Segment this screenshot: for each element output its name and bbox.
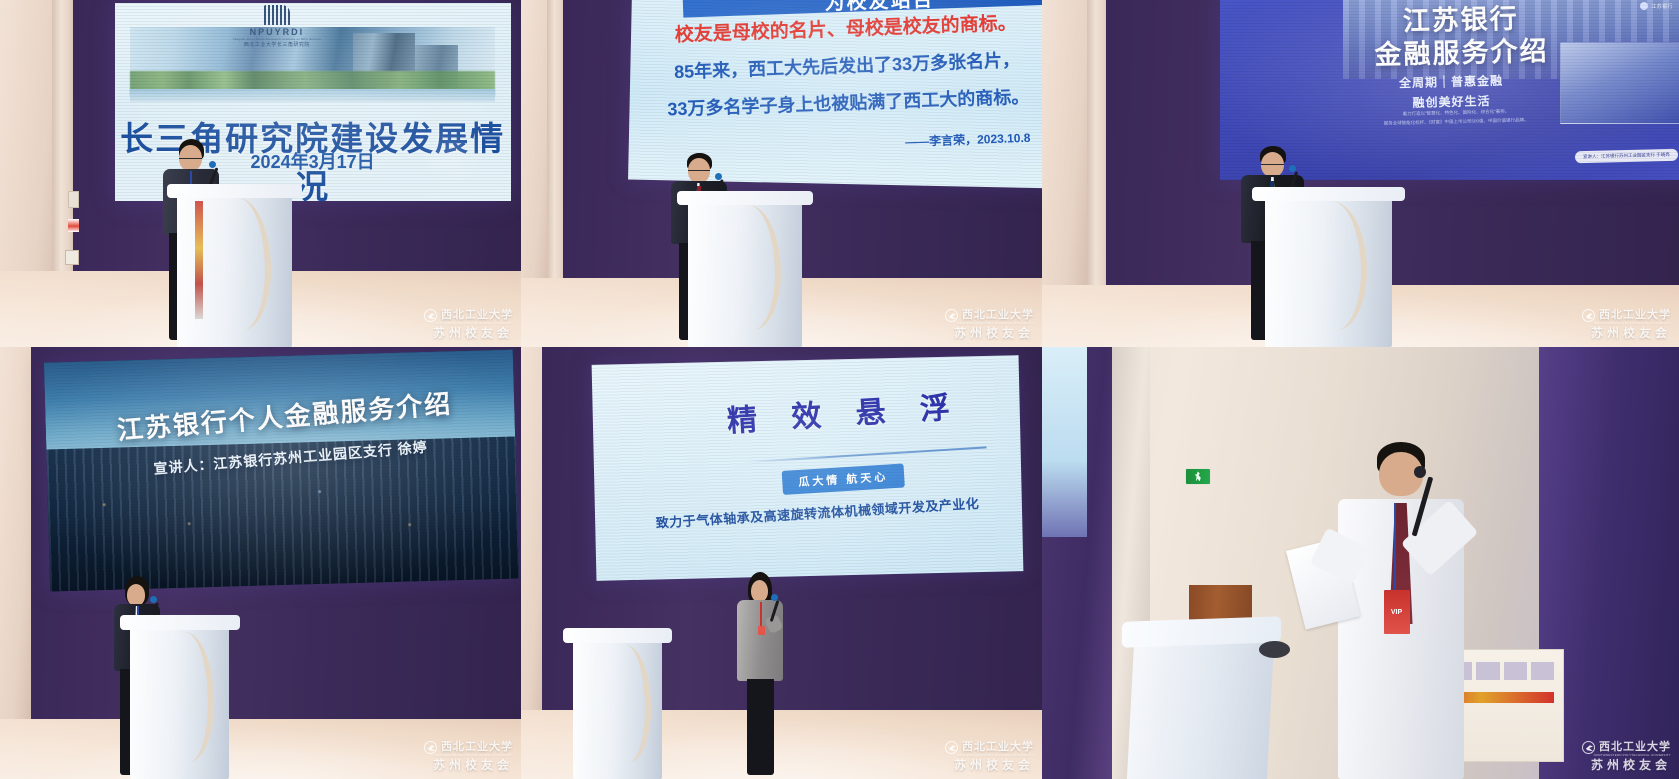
head xyxy=(127,584,145,606)
slide-line-3: 33万多名学子身上也被贴满了西工大的商标。 xyxy=(652,82,1042,122)
bank-mark-icon xyxy=(1640,2,1648,10)
lanyard xyxy=(760,602,762,628)
led-screen: 精 效 悬 浮 瓜大情 航天心 致力于气体轴承及高速旋转流体机械领域开发及产业化 xyxy=(592,355,1024,581)
slide-title: 精 效 悬 浮 xyxy=(686,380,1004,443)
wall-notice-red xyxy=(68,219,79,233)
podium xyxy=(1127,623,1275,779)
podium-top xyxy=(563,628,672,643)
podium-top xyxy=(167,184,302,198)
panel-top-center: 为校友站台 校友是母校的名片、母校是校友的商标。 85年来，西工大先后发出了33… xyxy=(521,0,1042,347)
panel-bottom-right: VIP 西北工业大学 NORTHWESTERN POLYTECHNICAL UN… xyxy=(1042,347,1679,779)
photo-collage: NPUYRDI Yangtze River Delta Research Ins… xyxy=(0,0,1679,779)
watermark-seal xyxy=(417,123,487,193)
speaker-person: VIP xyxy=(1290,442,1507,779)
waterfront xyxy=(130,89,494,103)
led-screen-edge xyxy=(1042,347,1087,537)
slide-badge: 瓜大情 航天心 xyxy=(782,463,905,494)
exit-sign-icon xyxy=(1185,468,1211,485)
logo-abbreviation: NPUYRDI xyxy=(218,27,337,37)
running-person-icon xyxy=(1195,471,1202,481)
speaker-person xyxy=(729,572,792,775)
podium-ribbon xyxy=(195,201,202,319)
slide-subtitle: 致力于气体轴承及高速旋转流体机械领域开发及产业化 xyxy=(637,491,996,532)
microphone-head-icon xyxy=(150,596,157,603)
lanyard xyxy=(1394,503,1396,591)
podium-top xyxy=(677,191,812,205)
banner-photo xyxy=(1531,662,1554,680)
panel-top-right: 江苏银行 江苏银行 金融服务介绍 全周期｜普惠金融 融创美好生活 着力打造以"智… xyxy=(1042,0,1679,347)
slide-title: 江苏银行 金融服务介绍 xyxy=(1314,1,1608,74)
vip-badge: VIP xyxy=(1384,590,1410,634)
led-screen: 江苏银行个人金融服务介绍 宣讲人：江苏银行苏州工业园区支行 徐婷 xyxy=(44,349,519,591)
glasses-icon xyxy=(688,170,710,171)
bank-brand-name: 江苏银行 xyxy=(1651,3,1673,10)
institute-logo: NPUYRDI Yangtze River Delta Research Ins… xyxy=(218,5,337,48)
head xyxy=(751,580,768,602)
panel-bottom-center: 精 效 悬 浮 瓜大情 航天心 致力于气体轴承及高速旋转流体机械领域开发及产业化… xyxy=(521,347,1042,779)
banner-photo xyxy=(1504,662,1527,680)
floor xyxy=(0,719,521,779)
panel-bottom-left: 江苏银行个人金融服务介绍 宣讲人：江苏银行苏州工业园区支行 徐婷 西北工业大学 … xyxy=(0,347,521,779)
slide-presenter-pill: 宣讲人：江苏银行苏州工业园区支行 于晓亮 xyxy=(1575,148,1678,163)
glasses-icon xyxy=(179,158,202,159)
slide-line-2: 85年来，西工大先后发出了33万多张名片， xyxy=(651,45,1042,85)
podium-top xyxy=(1252,187,1405,201)
slide-divider xyxy=(748,446,987,463)
logo-full-chinese: 西北工业大学长三角研究院 xyxy=(218,41,337,48)
microphone-head-icon xyxy=(1289,165,1296,172)
legs xyxy=(747,679,775,774)
wall-notice-2 xyxy=(65,250,79,266)
bank-logo: 江苏银行 xyxy=(1640,2,1673,10)
npu-mark-icon xyxy=(264,5,290,25)
podium-top xyxy=(120,615,240,630)
panel-top-left: NPUYRDI Yangtze River Delta Research Ins… xyxy=(0,0,521,347)
glasses-icon xyxy=(1261,164,1284,165)
slide-body: 校友是母校的名片、母校是校友的商标。 85年来，西工大先后发出了33万多张名片，… xyxy=(650,7,1042,159)
wall-notice xyxy=(68,191,79,208)
name-badge xyxy=(758,626,765,635)
microphone-head-icon xyxy=(209,161,216,168)
microphone-head-icon xyxy=(1414,466,1426,478)
